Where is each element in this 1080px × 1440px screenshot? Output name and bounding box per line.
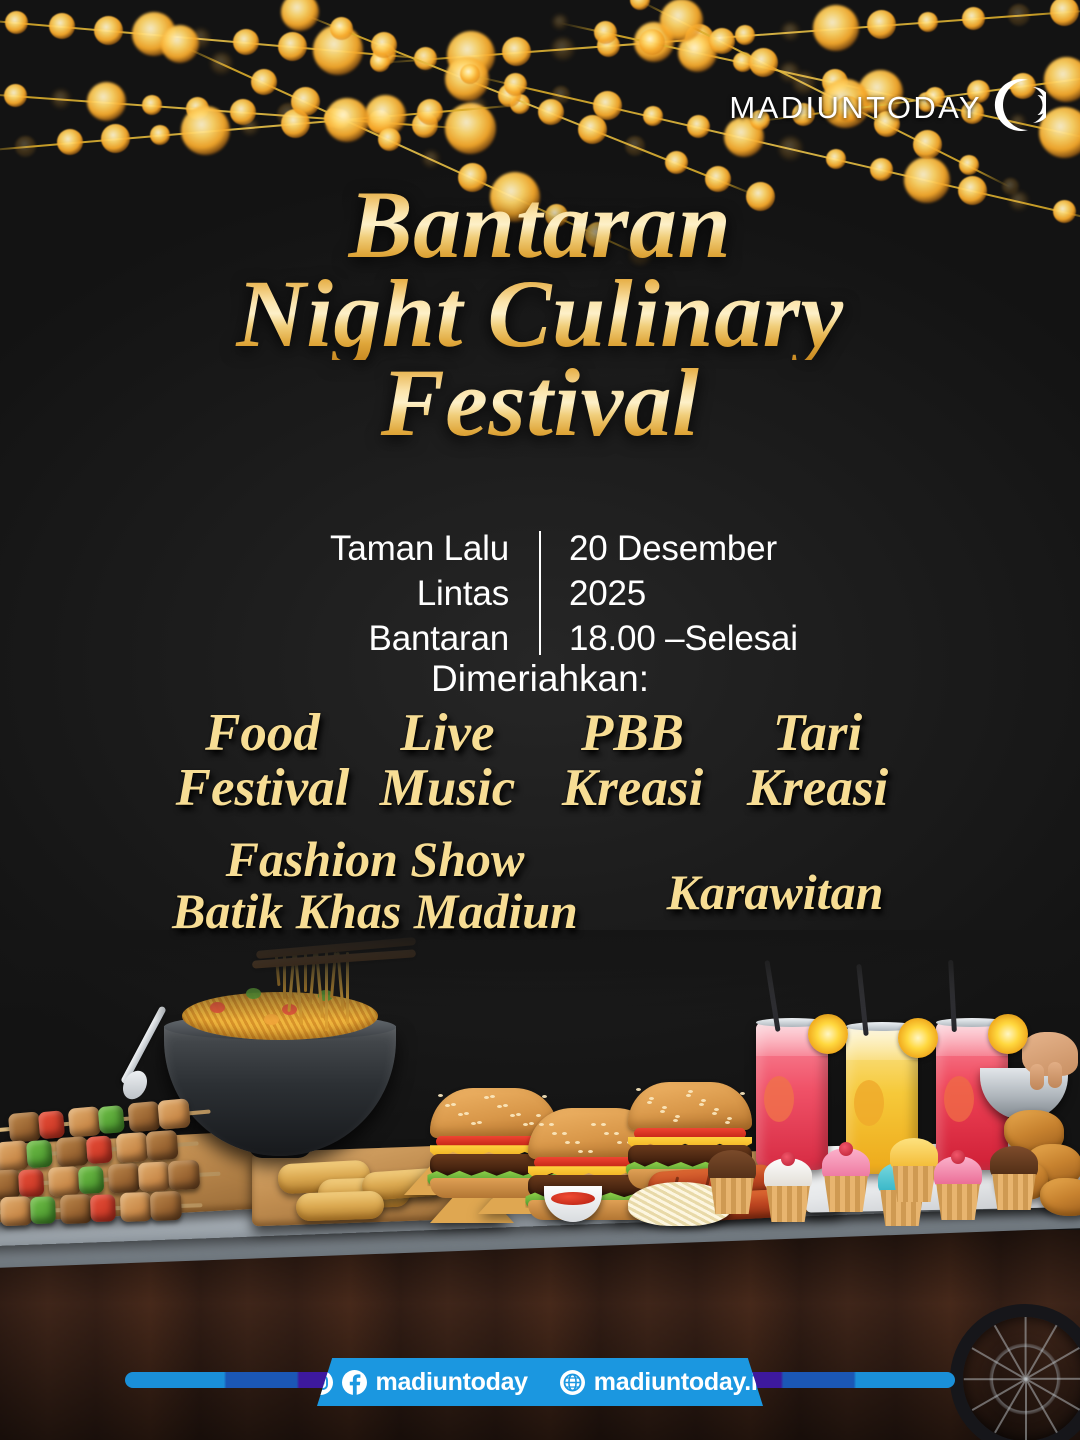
banner-center: madiuntoday madiuntoday.id	[317, 1358, 763, 1406]
satay-piece	[0, 1196, 32, 1226]
fruit-slice-in-glass	[854, 1080, 884, 1126]
cupcake	[820, 1146, 872, 1212]
lineup-item-line-1: Karawitan	[610, 866, 940, 918]
lineup-item-line-2: Kreasi	[725, 761, 910, 816]
lineup-item-line-1: Fashion Show	[140, 833, 610, 885]
lifted-noodle	[346, 952, 349, 1024]
lineup-item: Fashion Show Batik Khas Madiun	[140, 833, 610, 937]
satay-piece	[120, 1192, 152, 1222]
light-bulb	[281, 0, 319, 31]
bun-seed	[604, 1132, 609, 1135]
bun-seed	[673, 1119, 678, 1122]
lineup-item-line-2: Batik Khas Madiun	[140, 885, 610, 937]
cupcake-liner	[706, 1178, 758, 1214]
lineup-heading: Dimeriahkan:	[0, 658, 1080, 700]
noodle-garnish	[246, 988, 261, 999]
footer-social-banner: madiuntoday madiuntoday.id	[0, 1358, 1080, 1410]
bun-seed	[539, 1123, 544, 1126]
bun-seed	[516, 1113, 521, 1116]
raspberry-topping	[951, 1150, 965, 1164]
poster-title: Bantaran Night Culinary Festival	[0, 178, 1080, 449]
lineup-item-line-2: Festival	[170, 761, 355, 816]
bun-seed	[647, 1101, 652, 1104]
bun-seed	[699, 1103, 704, 1106]
satay-piece	[108, 1163, 140, 1194]
satay-piece	[8, 1111, 41, 1143]
title-line-2: Night Culinary	[0, 267, 1080, 360]
bun-seed	[591, 1123, 596, 1126]
lemon-wheel	[898, 1018, 938, 1058]
bun-seed	[445, 1104, 450, 1107]
cupcake-liner	[820, 1176, 872, 1212]
bun-seed	[484, 1096, 489, 1099]
bun-seed	[552, 1132, 557, 1135]
satay-piece	[150, 1191, 182, 1221]
datetime-block: 20 Desember 2025 18.00 –Selesai	[541, 527, 841, 661]
bun-seed	[497, 1105, 502, 1108]
bun-seed	[451, 1103, 456, 1106]
bun-seed	[636, 1088, 641, 1091]
bun-seed	[503, 1104, 508, 1107]
lineup-item-line-1: PBB	[540, 706, 725, 761]
bun-seed	[714, 1108, 719, 1111]
lineup-item: Food Festival	[170, 706, 355, 816]
satay-piece	[86, 1135, 113, 1164]
burger-bun-top	[628, 1082, 752, 1130]
finger	[1030, 1064, 1044, 1090]
bun-seed	[660, 1110, 665, 1113]
bun-seed	[614, 1132, 619, 1135]
bun-seed	[601, 1123, 606, 1126]
bun-seed	[464, 1112, 469, 1115]
venue-line-2: Bantaran	[239, 617, 509, 662]
bun-seed	[549, 1123, 554, 1126]
event-details: Taman Lalu Lintas Bantaran 20 Desember 2…	[0, 527, 1080, 661]
event-date: 20 Desember 2025	[569, 527, 841, 617]
spring-roll	[296, 1190, 385, 1221]
social-handle[interactable]: madiuntoday	[376, 1368, 528, 1397]
bun-seed	[617, 1141, 622, 1144]
bun-seed	[675, 1115, 680, 1118]
bun-seed	[575, 1141, 580, 1144]
satay-piece	[127, 1101, 160, 1133]
bun-seed	[688, 1090, 693, 1093]
cupcake	[706, 1148, 758, 1214]
satay-piece	[38, 1110, 65, 1139]
satay-piece	[18, 1169, 44, 1197]
satay-piece	[60, 1194, 92, 1224]
lineup-item-line-1: Live	[355, 706, 540, 761]
bun-seed	[662, 1106, 667, 1109]
lemon-wheel	[808, 1014, 848, 1054]
satay-piece	[0, 1140, 29, 1171]
bun-seed	[740, 1092, 745, 1095]
sauce	[551, 1192, 595, 1205]
cupcake	[988, 1144, 1040, 1210]
satay-piece	[98, 1105, 125, 1134]
serving-spoon-head	[118, 1067, 152, 1104]
noodle-garnish	[264, 1014, 279, 1025]
satay-piece	[168, 1160, 200, 1191]
raspberry-topping	[781, 1152, 795, 1166]
fruit-slice-in-glass	[944, 1076, 974, 1122]
satay-piece	[68, 1106, 101, 1138]
lineup-item-line-1: Food	[170, 706, 355, 761]
lifted-noodle	[325, 952, 328, 1031]
bun-seed	[712, 1112, 717, 1115]
venue-line-1: Taman Lalu Lintas	[239, 527, 509, 617]
lineup-row-2: Fashion Show Batik Khas Madiun Karawitan	[0, 833, 1080, 937]
light-wire	[380, 8, 1080, 64]
satay-piece	[26, 1140, 53, 1169]
bun-seed	[471, 1122, 476, 1125]
lineup-row-1: Food Festival Live Music PBB Kreasi Tari…	[0, 706, 1080, 816]
lineup-item: Live Music	[355, 706, 540, 816]
title-line-1: Bantaran	[0, 178, 1080, 271]
venue-block: Taman Lalu Lintas Bantaran	[239, 527, 539, 661]
satay-piece	[116, 1132, 149, 1163]
lineup-item: Karawitan	[610, 833, 940, 918]
brand-logo: MADIUNTODAY	[729, 74, 1046, 141]
event-time: 18.00 –Selesai	[569, 617, 841, 662]
bun-seed	[701, 1099, 706, 1102]
satay-piece	[146, 1130, 179, 1161]
globe-icon[interactable]	[560, 1370, 585, 1395]
bun-seed	[727, 1117, 732, 1120]
website-url[interactable]: madiuntoday.id	[594, 1368, 773, 1397]
bun-seed	[649, 1097, 654, 1100]
lemon-wheel	[988, 1014, 1028, 1054]
lineup-item-line-2: Music	[355, 761, 540, 816]
lineup-item-line-2: Kreasi	[540, 761, 725, 816]
finger	[1048, 1062, 1062, 1088]
lineup-item-line-1: Tari	[725, 706, 910, 761]
bun-seed	[565, 1141, 570, 1144]
satay-piece	[30, 1196, 56, 1224]
bun-seed	[510, 1114, 515, 1117]
satay-piece	[0, 1169, 20, 1200]
bun-seed	[536, 1114, 541, 1117]
event-poster: MADIUNTODAY Bantaran Night Culinary Fest…	[0, 0, 1080, 1440]
cupcake-liner	[762, 1186, 814, 1222]
bun-seed	[458, 1113, 463, 1116]
lineup-item: Tari Kreasi	[725, 706, 910, 816]
cupcake	[932, 1154, 984, 1220]
cupcake	[762, 1156, 814, 1222]
noodle-garnish	[210, 1002, 225, 1013]
satay-piece	[56, 1136, 89, 1167]
bun-seed	[477, 1121, 482, 1124]
bun-seed	[562, 1132, 567, 1135]
bun-seed	[438, 1094, 443, 1097]
light-wire	[0, 92, 470, 130]
lineup-item: PBB Kreasi	[540, 706, 725, 816]
cupcake-liner	[932, 1184, 984, 1220]
bun-seed	[578, 1150, 583, 1153]
fruit-slice-in-glass	[764, 1076, 794, 1122]
satay-piece	[78, 1166, 104, 1194]
facebook-icon[interactable]	[342, 1370, 367, 1395]
raspberry-topping	[839, 1142, 853, 1156]
satay-piece	[48, 1166, 80, 1197]
title-line-3: Festival	[0, 356, 1080, 449]
swirl-crescent-icon	[984, 74, 1046, 141]
logo-text: MADIUNTODAY	[729, 90, 982, 126]
bun-seed	[588, 1150, 593, 1153]
bun-seed	[725, 1121, 730, 1124]
satay-piece	[157, 1098, 190, 1130]
cupcake-liner	[988, 1174, 1040, 1210]
satay-piece	[138, 1161, 170, 1192]
satay-piece	[90, 1194, 116, 1222]
bun-seed	[490, 1095, 495, 1098]
bun-seed	[542, 1095, 547, 1098]
bun-seed	[686, 1094, 691, 1097]
